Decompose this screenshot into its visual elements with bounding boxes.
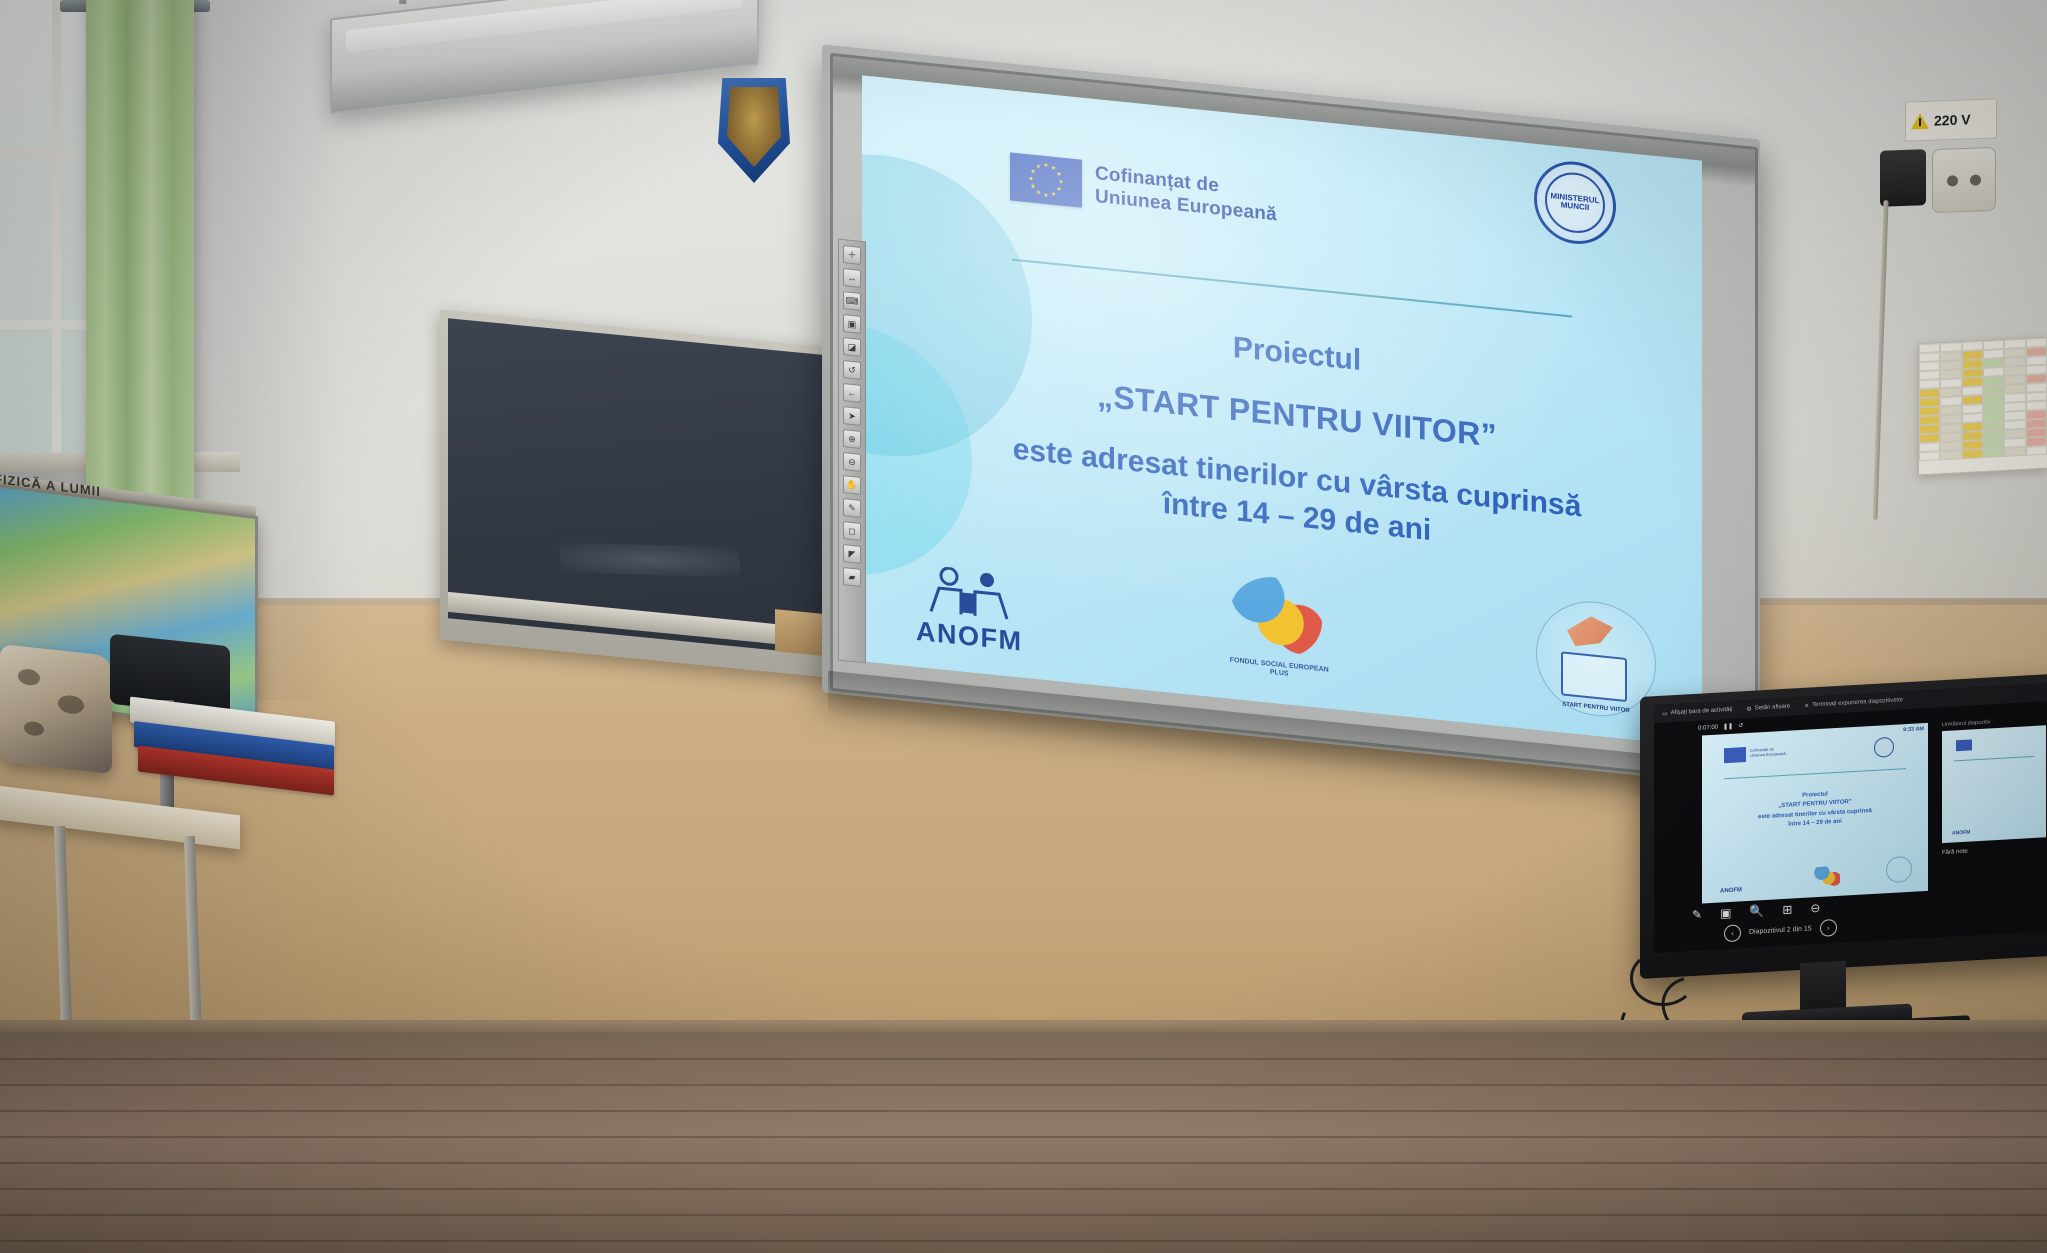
slide-text-block: Proiectul „START PENTRU VIITOR” este adr… (952, 302, 1642, 571)
floor-plank (0, 1084, 2047, 1086)
timer-value: 0:07:00 (1698, 724, 1718, 731)
end-show-icon: ✕ (1804, 702, 1809, 709)
mini-fjt-icon (1814, 866, 1840, 887)
mini-eu-flag-icon (1724, 747, 1746, 763)
ink-tools-icon[interactable]: ▣ (1720, 906, 1731, 921)
eu-flag-icon (1010, 152, 1082, 207)
arrow-icon[interactable]: ↔ (843, 268, 861, 288)
presenter-tools-row[interactable]: ✎ ▣ 🔍 ⊞ ⊖ (1692, 901, 1820, 922)
chart-cell (1919, 451, 1940, 461)
floor-plank (0, 1188, 2047, 1190)
undo-icon[interactable]: ↺ (843, 360, 861, 380)
pen-icon[interactable]: ✎ (843, 498, 861, 518)
wall-socket[interactable] (1932, 147, 1996, 213)
eu-star-icon (1031, 183, 1036, 189)
fjt-blob-icon (1230, 573, 1322, 662)
next-slide-preview[interactable]: ANOFM (1942, 725, 2046, 843)
hand-icon[interactable]: ✋ (843, 475, 861, 495)
eu-star-icon (1056, 186, 1061, 192)
display-settings-icon: ⚙ (1746, 705, 1751, 712)
reset-icon[interactable]: ↺ (1738, 722, 1743, 729)
select-icon[interactable]: ▰ (843, 567, 861, 587)
display-settings-item[interactable]: ⚙ Setări afișare (1746, 703, 1790, 712)
pointer-icon[interactable]: ➤ (843, 406, 861, 426)
zoom-in-icon[interactable]: ⊕ (843, 429, 861, 449)
zoom-icon[interactable]: 🔍 (1749, 904, 1764, 919)
keyboard-icon[interactable]: ⌨ (843, 291, 861, 311)
presenter-view[interactable]: ▭ Afișați bara de activități ⚙ Setări af… (1654, 683, 2047, 953)
back-icon[interactable]: ← (843, 383, 861, 403)
next-divider-rule (1954, 756, 2034, 761)
eu-star-icon (1059, 179, 1064, 185)
slide-divider-rule (1012, 259, 1572, 318)
zoom-out-icon[interactable]: ⊖ (843, 452, 861, 472)
next-anofm-label: ANOFM (1952, 829, 1970, 836)
see-all-slides-icon[interactable]: ⊞ (1782, 902, 1792, 917)
chart-cell (1962, 449, 1983, 459)
chart-cell (2026, 446, 2047, 456)
notes-panel[interactable]: Următorul diapozitiv ANOFM Fără note (1942, 716, 2047, 912)
floor-plank (0, 1240, 2047, 1242)
presenter-toolbar-label-2: Terminați expunerea diapozitivelor (1812, 697, 1903, 708)
anofm-logo: ANOFM (916, 564, 1022, 658)
wall-schedule-chart (1918, 337, 2047, 476)
anofm-figures-icon (921, 564, 1017, 624)
voltage-label: 220 V (1934, 111, 1971, 128)
eu-funding-text: Cofinanțat de Uniunea Europeană (1095, 162, 1277, 227)
taskbar-icon-item[interactable]: ▭ Afișați bara de activități (1662, 706, 1732, 717)
floor-plank (0, 1110, 2047, 1112)
circle-caption: START PENTRU VIITOR (1537, 699, 1655, 717)
mini-eu-text: Cofinanțat de Uniunea Europeană (1750, 746, 1786, 758)
floor-plank (0, 1162, 2047, 1164)
clock-label: 9:33 AM (1903, 726, 1924, 733)
floor-plank (0, 1058, 2047, 1060)
eu-star-icon (1051, 165, 1056, 171)
gov-seal-text: MINISTERUL MUNCII (1545, 170, 1605, 236)
eu-star-icon (1044, 192, 1049, 198)
eu-star-icon (1044, 162, 1049, 168)
presenter-toolbar-label-0: Afișați bara de activități (1671, 707, 1733, 716)
chart-cell (1983, 448, 2004, 458)
circle-hand-icon (1567, 614, 1613, 653)
eu-star-icon (1036, 164, 1041, 170)
chalk-smudge (559, 542, 741, 577)
highlighter-icon[interactable]: ◤ (843, 544, 861, 564)
government-seal-icon: MINISTERUL MUNCII (1534, 158, 1616, 248)
smartboard-side-toolbar[interactable]: ＋↔⌨▣◪↺←➤⊕⊖✋✎◻◤▰ (838, 239, 866, 664)
pen-icon[interactable]: ✎ (1692, 907, 1702, 922)
presentation-timer-bar[interactable]: 0:07:00 ❚❚ ↺ (1698, 722, 1743, 732)
eraser-icon[interactable]: ◻ (843, 521, 861, 541)
fjt-logo: FONDUL SOCIAL EUROPEAN PLUS (1220, 570, 1338, 690)
floor (0, 1032, 2047, 1253)
eu-star-icon (1031, 168, 1036, 174)
eu-funding-block: Cofinanțat de Uniunea Europeană (1010, 152, 1277, 227)
taskbar-icon: ▭ (1662, 710, 1668, 717)
fjt-caption: FONDUL SOCIAL EUROPEAN PLUS (1220, 656, 1338, 684)
presenter-toolbar-label-1: Setări afișare (1755, 704, 1790, 712)
floor-plank (0, 1214, 2047, 1216)
floor-plank (0, 1136, 2047, 1138)
chart-cell (2004, 447, 2025, 457)
save-icon[interactable]: ▣ (843, 314, 861, 334)
black-screen-icon[interactable]: ⊖ (1810, 901, 1820, 916)
eu-star-icon (1036, 189, 1041, 195)
projection-screen[interactable]: Cofinanțat de Uniunea Europeană MINISTER… (862, 75, 1702, 746)
chart-cell (1940, 450, 1961, 460)
handbag (0, 644, 112, 774)
mini-circle-logo-icon (1886, 856, 1912, 883)
eu-star-icon (1056, 171, 1061, 177)
mini-divider-rule (1724, 768, 1906, 779)
electrical-hazard-icon (1911, 113, 1929, 130)
voltage-warning-sign: 220 V (1905, 98, 1997, 141)
eu-star-icon (1029, 176, 1034, 182)
project-circle-logo: START PENTRU VIITOR (1536, 596, 1656, 722)
notes-placeholder: Fără note (1942, 844, 2047, 856)
end-show-item[interactable]: ✕ Terminați expunerea diapozitivelor (1804, 697, 1903, 710)
mini-slide-text: Proiectul „START PENTRU VIITOR” este adr… (1712, 785, 1918, 834)
curtain (86, 0, 194, 560)
mini-eu-line2: Uniunea Europeană (1750, 751, 1786, 758)
mini-anofm-label: ANOFM (1720, 887, 1742, 894)
classroom-scene: Cofinanțat de Uniunea Europeană MINISTER… (0, 0, 2047, 1253)
monitor-screen[interactable]: ▭ Afișați bara de activități ⚙ Setări af… (1654, 683, 2047, 953)
pause-icon[interactable]: ❚❚ (1723, 723, 1733, 731)
plus-icon[interactable]: ＋ (843, 245, 861, 265)
power-plug[interactable] (1880, 149, 1926, 207)
mini-gov-seal-icon (1874, 737, 1894, 758)
eu-star-icon (1051, 191, 1056, 197)
page-icon[interactable]: ◪ (843, 337, 861, 357)
next-eu-flag-icon (1956, 739, 1972, 751)
circle-card-icon (1561, 651, 1627, 702)
current-slide-preview[interactable]: 9:33 AM Cofinanțat de Uniunea Europeană … (1702, 723, 1928, 904)
